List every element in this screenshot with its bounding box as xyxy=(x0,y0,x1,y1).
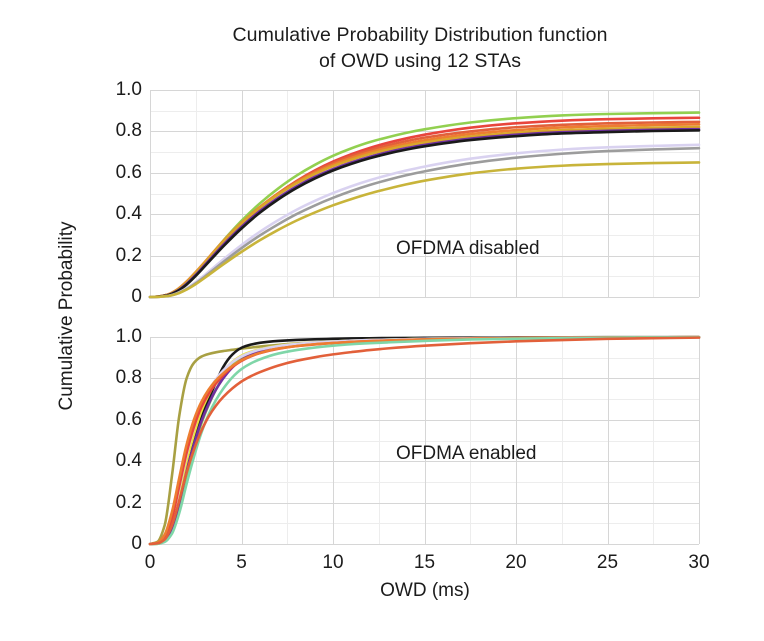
x-axis-label: OWD (ms) xyxy=(150,580,700,602)
chart-title: Cumulative Probability Distribution func… xyxy=(120,22,720,74)
y-tick-label: 1.0 xyxy=(96,79,142,101)
x-tick-label: 0 xyxy=(128,552,172,574)
x-tick-label: 5 xyxy=(220,552,264,574)
x-tick-label: 10 xyxy=(311,552,355,574)
chart-figure: Cumulative Probability Distribution func… xyxy=(0,0,764,641)
y-tick-label: 1.0 xyxy=(96,326,142,348)
y-tick-label: 0.6 xyxy=(96,409,142,431)
x-tick-label: 15 xyxy=(403,552,447,574)
panel-background xyxy=(150,90,699,297)
panel-annotation-ofdma-enabled: OFDMA enabled xyxy=(396,443,536,465)
y-tick-label: 0.6 xyxy=(96,162,142,184)
y-tick-label: 0.4 xyxy=(96,203,142,225)
y-axis-ticks-top-panel: 00.20.40.60.81.0 xyxy=(96,90,142,297)
y-tick-label: 0.4 xyxy=(96,450,142,472)
x-tick-label: 30 xyxy=(677,552,721,574)
y-axis-ticks-bottom-panel: 00.20.40.60.81.0 xyxy=(96,337,142,544)
x-tick-label: 20 xyxy=(494,552,538,574)
y-tick-label: 0 xyxy=(96,286,142,308)
x-axis-ticks: 051015202530 xyxy=(0,552,764,576)
panel-top xyxy=(150,90,700,298)
y-axis-label: Cumulative Probability xyxy=(56,186,78,446)
panel-bottom xyxy=(150,337,700,545)
x-tick-label: 25 xyxy=(586,552,630,574)
y-tick-label: 0.2 xyxy=(96,245,142,267)
panel-annotation-ofdma-disabled: OFDMA disabled xyxy=(396,238,540,260)
y-tick-label: 0.8 xyxy=(96,120,142,142)
y-tick-label: 0.8 xyxy=(96,367,142,389)
y-tick-label: 0.2 xyxy=(96,492,142,514)
